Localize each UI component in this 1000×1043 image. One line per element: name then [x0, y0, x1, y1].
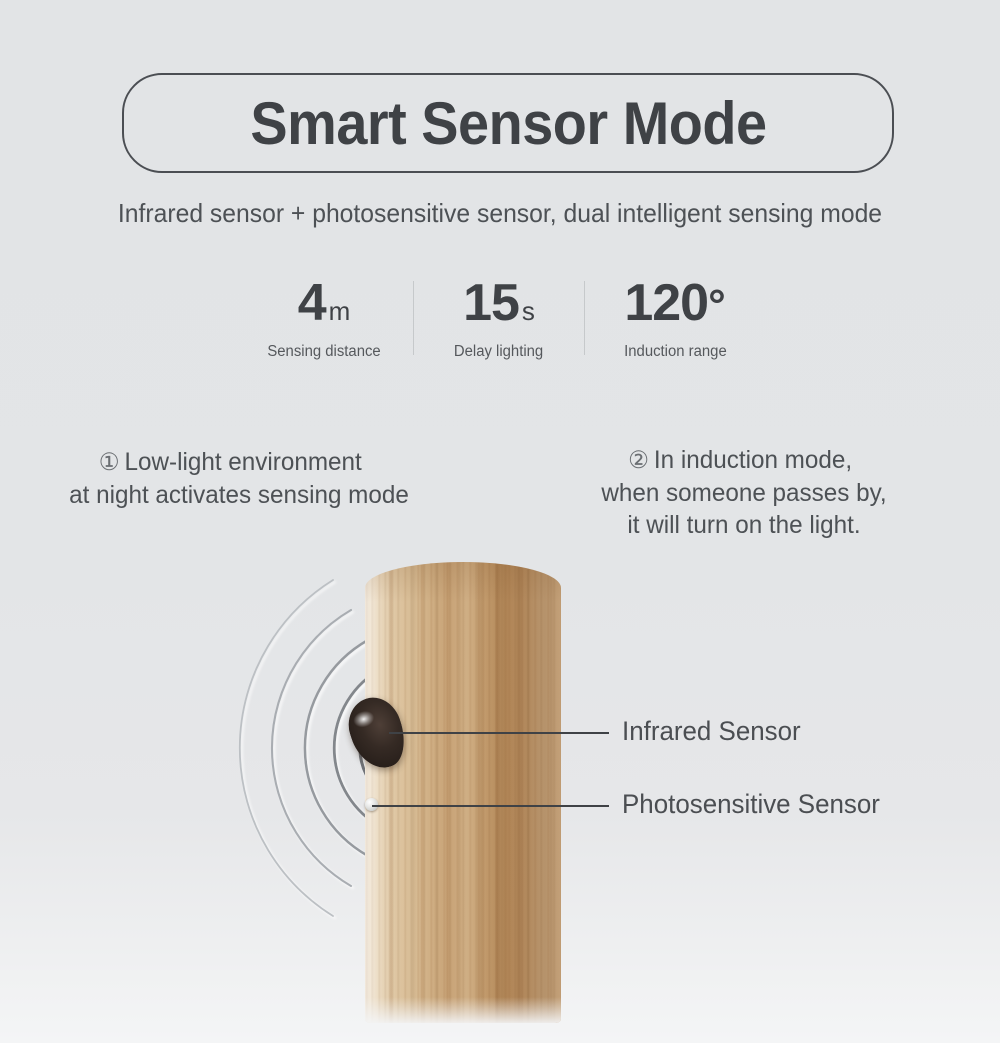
- spec-label: Induction range: [624, 343, 727, 361]
- page-title: Smart Sensor Mode: [250, 89, 766, 158]
- leader-line-infrared: [389, 732, 609, 734]
- spec-label: Delay lighting: [454, 343, 543, 361]
- spec-unit: m: [329, 298, 351, 324]
- cylinder-bottom-fade: [365, 997, 561, 1023]
- spec-sensing-distance: 4m Sensing distance: [235, 277, 413, 361]
- page-subtitle: Infrared sensor + photosensitive sensor,…: [25, 198, 975, 229]
- spec-induction-range: 120° Induction range: [585, 277, 765, 361]
- spec-value: 120°: [624, 277, 725, 329]
- feature-item-1: ①Low-light environment at night activate…: [15, 446, 463, 511]
- spec-number: 120: [624, 277, 708, 329]
- spec-delay-lighting: 15s Delay lighting: [414, 277, 584, 361]
- feature-marker-icon: ②: [628, 447, 649, 474]
- feature-line: ①Low-light environment: [0, 446, 463, 479]
- feature-marker-icon: ①: [99, 449, 120, 476]
- title-badge: Smart Sensor Mode: [122, 73, 894, 173]
- spec-unit: °: [708, 284, 726, 328]
- callout-label-photosensitive: Photosensitive Sensor: [622, 789, 880, 820]
- spec-value: 4m: [298, 277, 351, 329]
- feature-item-2: ②In induction mode, when someone passes …: [540, 444, 947, 541]
- spec-label: Sensing distance: [267, 343, 380, 361]
- feature-text: In induction mode,: [654, 446, 852, 474]
- feature-line: at night activates sensing mode: [15, 479, 463, 511]
- feature-line: it will turn on the light.: [540, 509, 947, 541]
- product-illustration: Infrared Sensor Photosensitive Sensor: [0, 540, 1000, 1043]
- spec-number: 15: [463, 277, 519, 329]
- spec-row: 4m Sensing distance 15s Delay lighting 1…: [0, 277, 1000, 361]
- cylinder-top-shading: [365, 562, 561, 602]
- feature-line: when someone passes by,: [540, 477, 947, 509]
- leader-line-photosensitive: [372, 805, 609, 807]
- product-infographic: Smart Sensor Mode Infrared sensor + phot…: [0, 0, 1000, 1043]
- feature-line: ②In induction mode,: [533, 444, 948, 477]
- spec-value: 15s: [463, 277, 535, 329]
- spec-unit: s: [522, 298, 535, 324]
- spec-number: 4: [298, 277, 326, 329]
- wooden-lamp-body: [365, 562, 561, 1023]
- wood-grain-texture: [365, 562, 561, 1023]
- feature-text: Low-light environment: [125, 448, 362, 476]
- callout-label-infrared: Infrared Sensor: [622, 716, 801, 747]
